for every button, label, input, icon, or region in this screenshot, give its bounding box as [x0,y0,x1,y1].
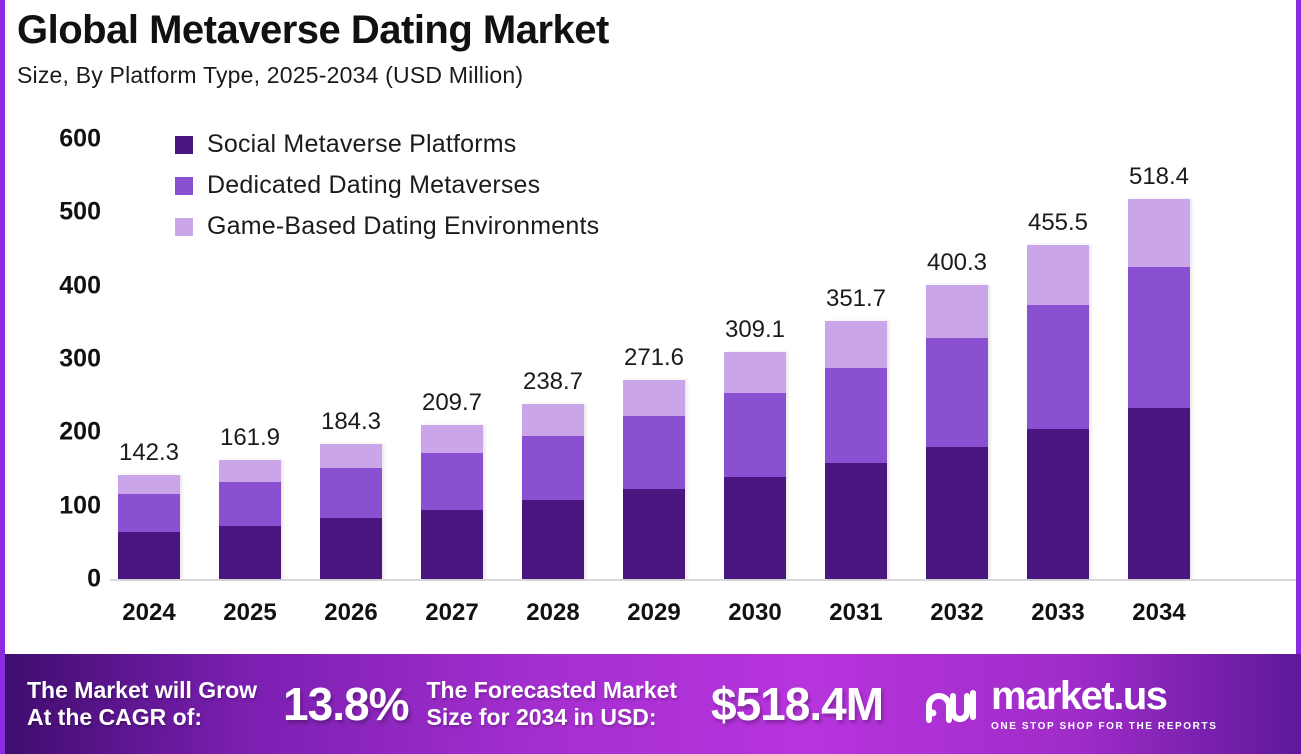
forecast-label-line2: Size for 2034 in USD: [426,704,677,731]
stacked-bar[interactable] [825,321,887,579]
x-axis-label: 2026 [314,599,388,627]
bar-segment [1128,267,1190,408]
y-axis-tick: 300 [11,345,101,374]
y-axis-tick: 600 [11,125,101,154]
bar-segment [724,393,786,477]
x-axis-label: 2030 [718,599,792,627]
bar-value-label: 238.7 [516,368,590,396]
footer-banner: The Market will Grow At the CAGR of: 13.… [5,654,1301,754]
page-title: Global Metaverse Dating Market [17,8,1284,52]
bar-segment [118,494,180,533]
x-axis-label: 2032 [920,599,994,627]
bar-column[interactable]: 351.72031 [819,118,893,648]
stacked-bar[interactable] [1128,199,1190,579]
bar-value-label: 309.1 [718,316,792,344]
bar-segment [118,475,180,494]
bar-segment [1027,305,1089,429]
bar-segment [1128,408,1190,579]
forecast-block: The Forecasted Market Size for 2034 in U… [408,677,883,731]
bar-segment [219,526,281,579]
bar-column[interactable]: 184.32026 [314,118,388,648]
bar-segment [623,489,685,579]
forecast-label-line1: The Forecasted Market [426,677,677,704]
bar-value-label: 142.3 [112,439,186,467]
bar-column[interactable]: 142.32024 [112,118,186,648]
forecast-label: The Forecasted Market Size for 2034 in U… [426,677,677,731]
stacked-bar[interactable] [421,425,483,579]
bar-segment [724,352,786,393]
bar-segment [1027,429,1089,579]
bar-segment [522,436,584,501]
bar-segment [421,425,483,453]
bar-segment [118,532,180,579]
bar-segment [522,404,584,436]
logo-name: market.us [991,674,1166,718]
bar-segment [623,380,685,416]
bar-value-label: 209.7 [415,389,489,417]
bar-column[interactable]: 518.42034 [1122,118,1196,648]
bar-value-label: 184.3 [314,408,388,436]
cagr-label-line2: At the CAGR of: [27,704,257,731]
bar-segment [825,463,887,579]
x-axis-label: 2027 [415,599,489,627]
bar-segment [219,460,281,481]
bar-segment [1027,245,1089,305]
bar-value-label: 161.9 [213,424,287,452]
stacked-bar[interactable] [320,444,382,579]
bar-segment [522,500,584,579]
market-us-logo[interactable]: market.us ONE STOP SHOP FOR THE REPORTS [923,676,1217,732]
bar-segment [320,518,382,579]
y-axis-tick: 400 [11,271,101,300]
bar-column[interactable]: 455.52033 [1021,118,1095,648]
y-axis-tick: 100 [11,491,101,520]
bar-value-label: 400.3 [920,249,994,277]
y-axis-tick: 200 [11,418,101,447]
x-axis-label: 2034 [1122,599,1196,627]
y-axis-tick: 500 [11,198,101,227]
bar-value-label: 271.6 [617,344,691,372]
bar-segment [825,321,887,367]
logo-tagline: ONE STOP SHOP FOR THE REPORTS [991,721,1217,732]
bar-column[interactable]: 271.62029 [617,118,691,648]
bar-segment [926,285,988,338]
bar-segment [219,482,281,526]
bar-column[interactable]: 309.12030 [718,118,792,648]
x-axis-label: 2024 [112,599,186,627]
bar-value-label: 518.4 [1122,163,1196,191]
bar-series-container: 142.32024161.92025184.32026209.72027238.… [110,118,1298,648]
stacked-bar[interactable] [522,404,584,579]
cagr-value: 13.8% [283,677,408,731]
bar-segment [825,368,887,463]
stacked-bar[interactable] [623,380,685,579]
x-axis-label: 2025 [213,599,287,627]
infographic-page: Global Metaverse Dating Market Size, By … [0,0,1301,754]
x-axis-label: 2029 [617,599,691,627]
bar-column[interactable]: 238.72028 [516,118,590,648]
bar-segment [421,453,483,510]
stacked-bar[interactable] [1027,245,1089,579]
bar-column[interactable]: 400.32032 [920,118,994,648]
bar-segment [926,338,988,447]
bar-segment [421,510,483,579]
bar-segment [1128,199,1190,267]
chart-plot-area: Social Metaverse PlatformsDedicated Dati… [5,118,1301,648]
page-subtitle: Size, By Platform Type, 2025-2034 (USD M… [17,62,1284,89]
bar-segment [724,477,786,579]
bar-column[interactable]: 161.92025 [213,118,287,648]
bar-segment [320,444,382,468]
stacked-bar[interactable] [724,352,786,579]
x-axis-label: 2028 [516,599,590,627]
cagr-label-line1: The Market will Grow [27,677,257,704]
market-us-mark-icon [923,682,979,726]
bar-value-label: 455.5 [1021,209,1095,237]
cagr-block: The Market will Grow At the CAGR of: 13.… [5,677,408,731]
x-axis-label: 2033 [1021,599,1095,627]
stacked-bar[interactable] [219,460,281,579]
y-axis: 0100200300400500600 [5,118,101,648]
bar-segment [926,447,988,579]
x-axis-label: 2031 [819,599,893,627]
stacked-bar[interactable] [118,475,180,579]
bar-segment [320,468,382,518]
cagr-label: The Market will Grow At the CAGR of: [27,677,257,731]
market-us-wordmark: market.us ONE STOP SHOP FOR THE REPORTS [991,676,1217,732]
y-axis-tick: 0 [11,565,101,594]
bar-value-label: 351.7 [819,285,893,313]
stacked-bar[interactable] [926,285,988,579]
bar-segment [623,416,685,490]
chart-header: Global Metaverse Dating Market Size, By … [17,8,1284,89]
forecast-value: $518.4M [711,677,883,731]
bar-column[interactable]: 209.72027 [415,118,489,648]
